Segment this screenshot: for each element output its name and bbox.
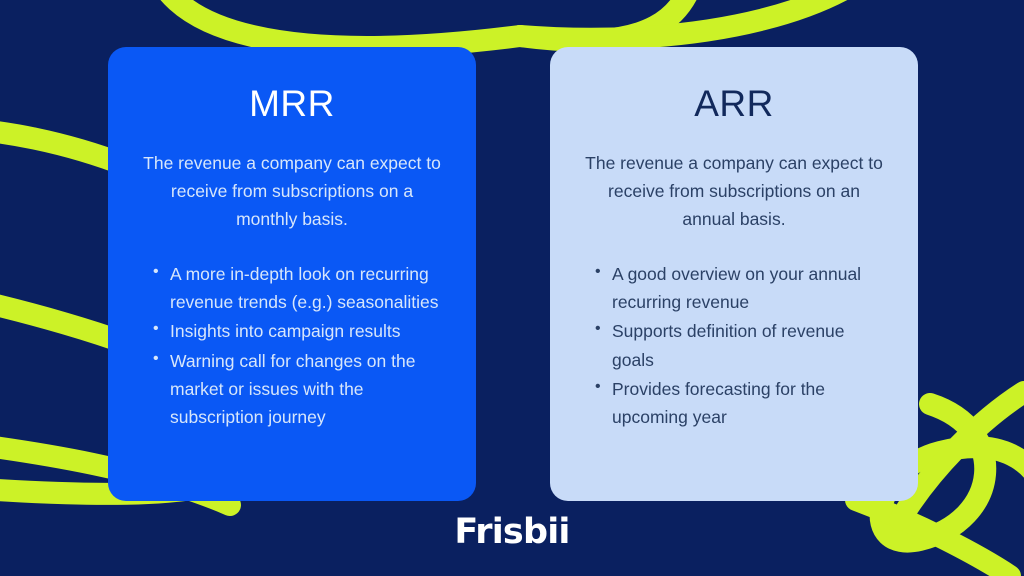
list-item: A more in-depth look on recurring revenu… — [170, 260, 444, 317]
card-mrr-title: MRR — [134, 84, 450, 125]
frisbii-logo: Frisbii — [454, 512, 569, 552]
card-arr-description: The revenue a company can expect to rece… — [576, 149, 892, 234]
list-item: Supports definition of revenue goals — [612, 317, 886, 374]
slide-canvas: MRR The revenue a company can expect to … — [0, 0, 1024, 576]
list-item: Insights into campaign results — [170, 317, 444, 345]
list-item: Provides forecasting for the upcoming ye… — [612, 375, 886, 432]
card-arr-title: ARR — [576, 84, 892, 125]
card-arr[interactable]: ARR The revenue a company can expect to … — [550, 47, 918, 501]
card-mrr-bullet-list: A more in-depth look on recurring revenu… — [134, 260, 450, 432]
comparison-cards: MRR The revenue a company can expect to … — [0, 0, 1024, 576]
list-item: A good overview on your annual recurring… — [612, 260, 886, 317]
card-arr-bullet-list: A good overview on your annual recurring… — [576, 260, 892, 432]
list-item: Warning call for changes on the market o… — [170, 347, 444, 432]
card-mrr-description: The revenue a company can expect to rece… — [134, 149, 450, 234]
brand-footer: Frisbii — [0, 512, 1024, 552]
card-mrr[interactable]: MRR The revenue a company can expect to … — [108, 47, 476, 501]
